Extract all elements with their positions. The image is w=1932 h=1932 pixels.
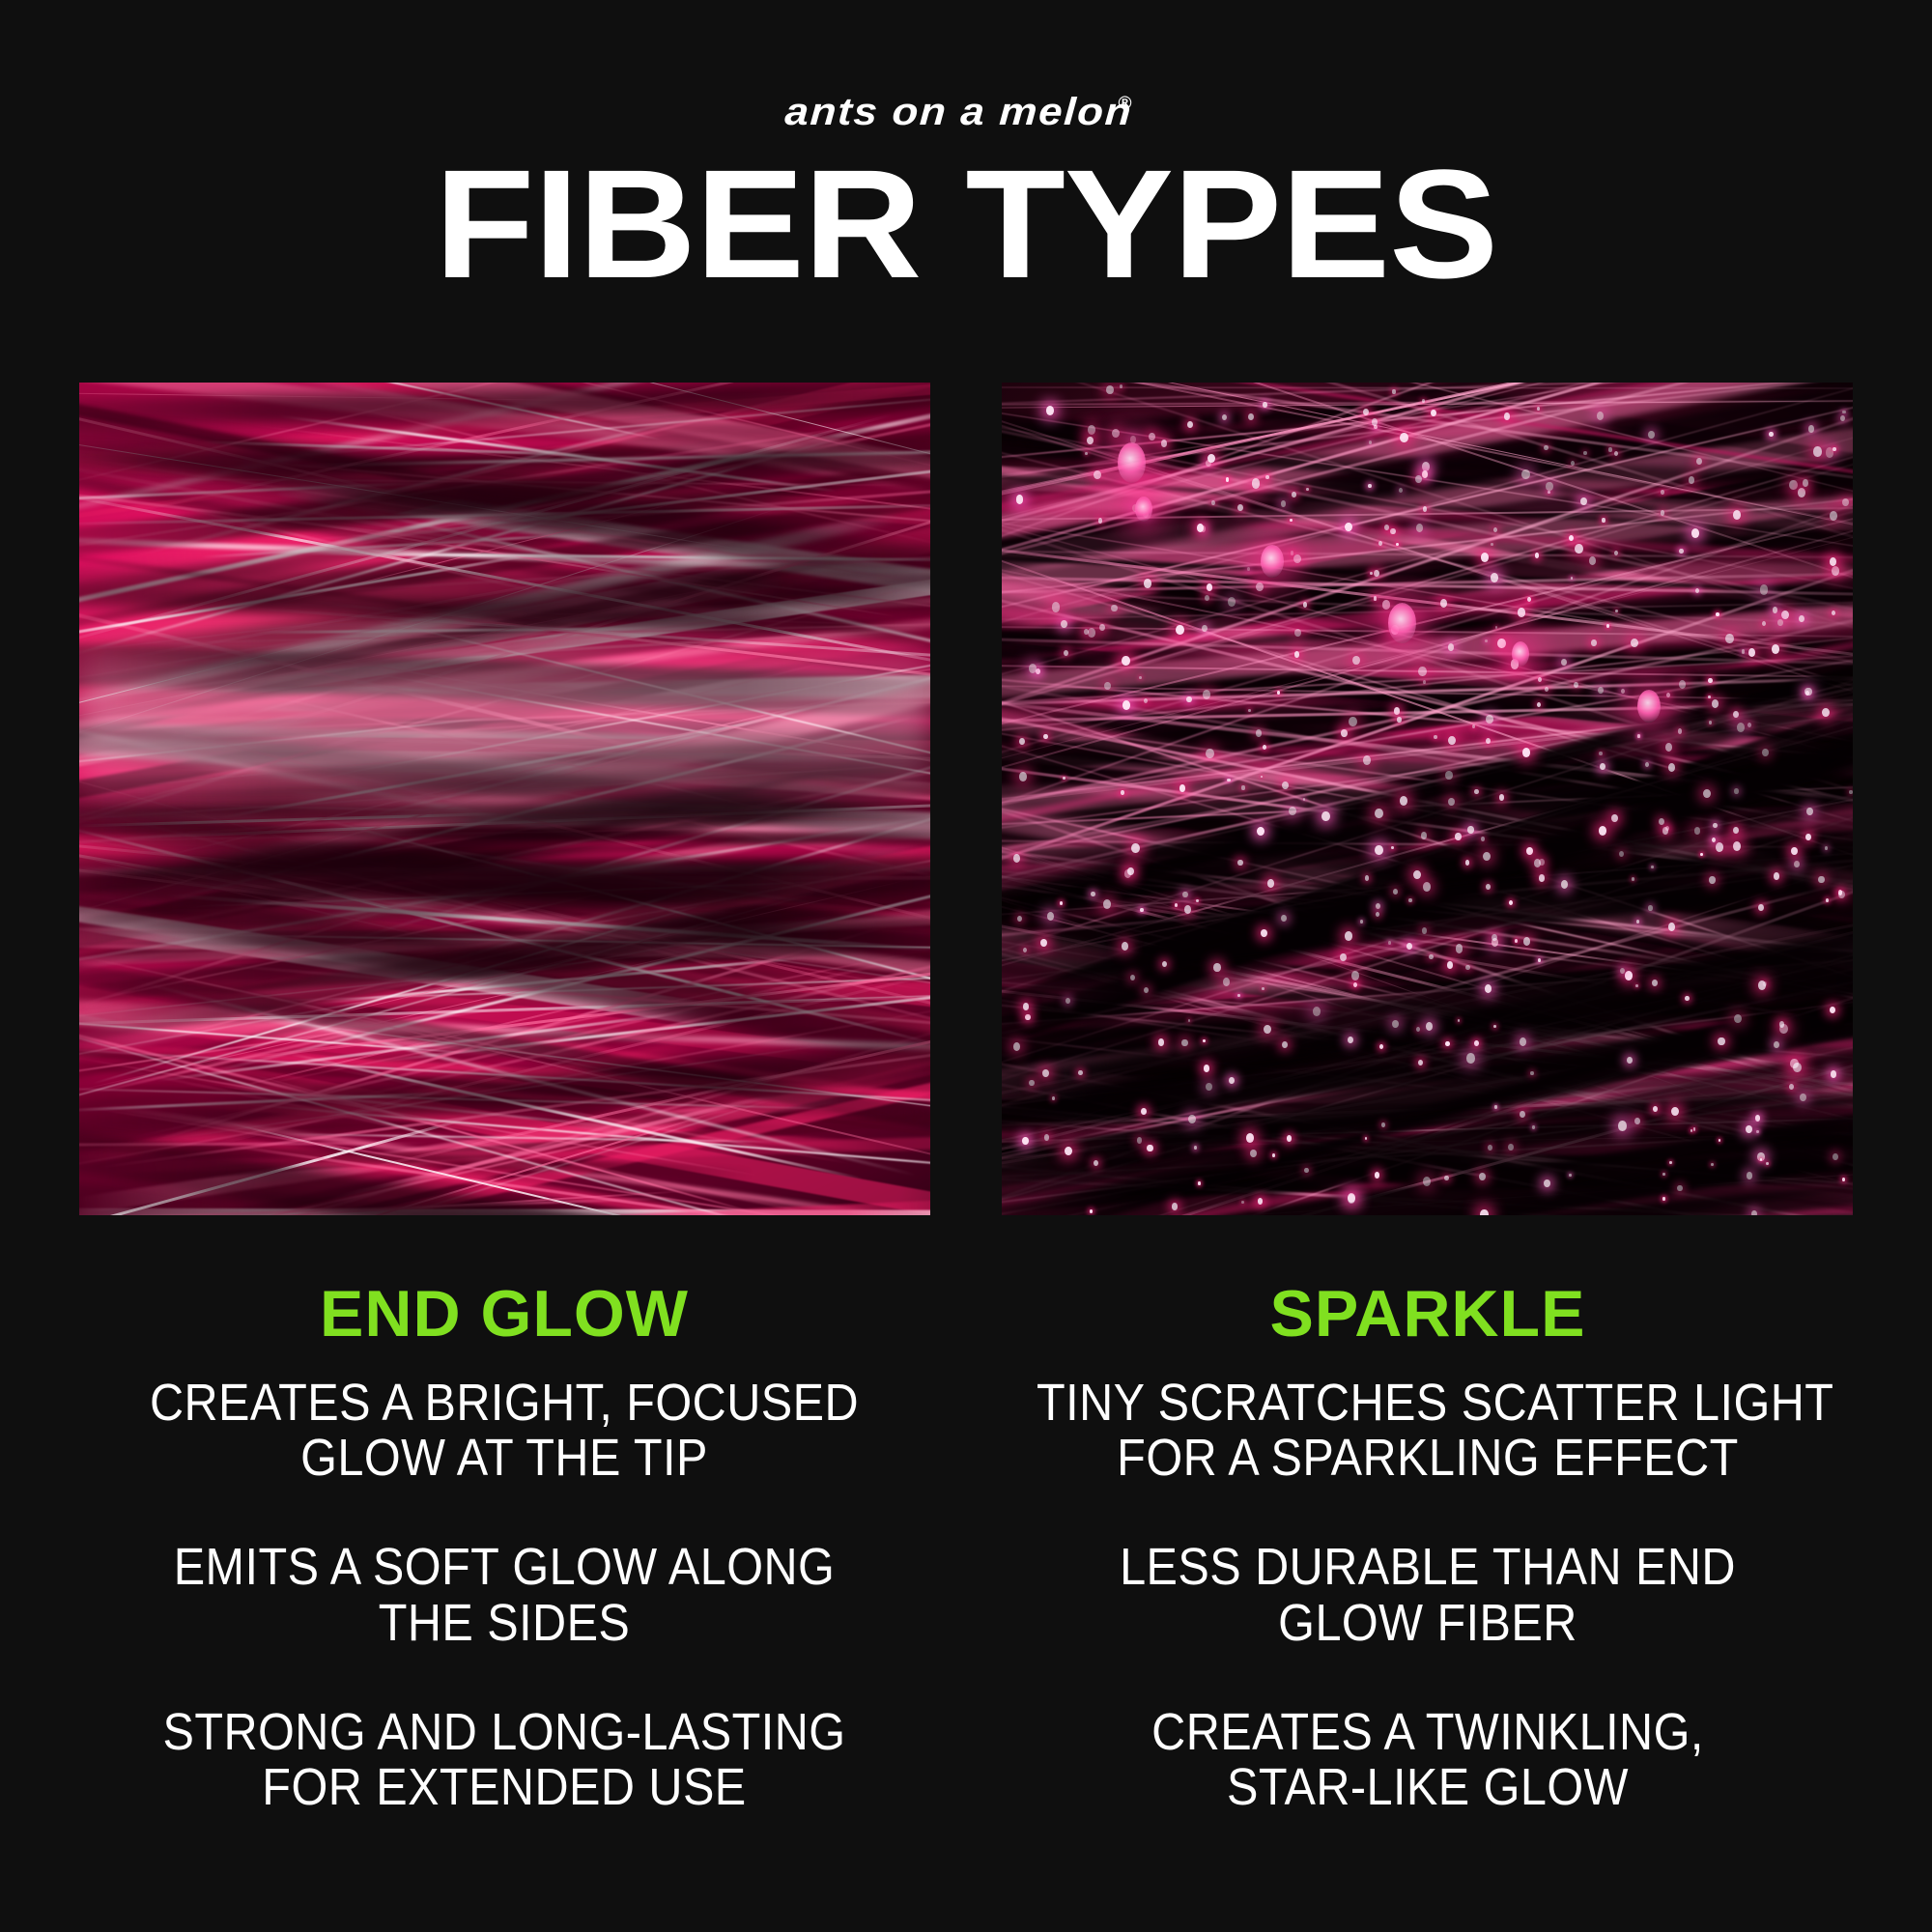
bullet-item: CREATES A TWINKLING,STAR-LIKE GLOW bbox=[1037, 1705, 1819, 1815]
bullet-item: STRONG AND LONG-LASTINGFOR EXTENDED USE bbox=[113, 1705, 895, 1815]
bullet-line: CREATES A TWINKLING, bbox=[1037, 1705, 1819, 1760]
brand-logo: ants on a melon® bbox=[0, 93, 1932, 131]
bullet-line: GLOW FIBER bbox=[1037, 1596, 1819, 1651]
bullet-item: EMITS A SOFT GLOW ALONGTHE SIDES bbox=[113, 1540, 895, 1650]
bullet-line: CREATES A BRIGHT, FOCUSED bbox=[113, 1376, 895, 1431]
bullet-item: LESS DURABLE THAN ENDGLOW FIBER bbox=[1037, 1540, 1819, 1650]
bullet-line: FOR EXTENDED USE bbox=[113, 1760, 895, 1815]
bullet-line: STAR-LIKE GLOW bbox=[1037, 1760, 1819, 1815]
bullet-line: STRONG AND LONG-LASTING bbox=[113, 1705, 895, 1760]
bullet-line: THE SIDES bbox=[113, 1596, 895, 1651]
photo-end-glow bbox=[79, 383, 930, 1215]
bullet-line: GLOW AT THE TIP bbox=[113, 1431, 895, 1486]
bullet-line: LESS DURABLE THAN END bbox=[1037, 1540, 1819, 1595]
brand-name: ants on a melon bbox=[783, 93, 1133, 131]
photo-sparkle bbox=[1002, 383, 1853, 1215]
bullet-line: EMITS A SOFT GLOW ALONG bbox=[113, 1540, 895, 1595]
column-heading-sparkle: SPARKLE bbox=[993, 1281, 1862, 1347]
page-title: FIBER TYPES bbox=[0, 145, 1932, 302]
bullet-item: CREATES A BRIGHT, FOCUSEDGLOW AT THE TIP bbox=[113, 1376, 895, 1486]
infographic-poster: ants on a melon® FIBER TYPES END GLOW SP… bbox=[0, 0, 1932, 1932]
sparkle-points bbox=[1002, 383, 1853, 1215]
bullet-column-end-glow: CREATES A BRIGHT, FOCUSEDGLOW AT THE TIP… bbox=[70, 1376, 939, 1815]
column-heading-end-glow: END GLOW bbox=[70, 1281, 939, 1347]
bullet-line: FOR A SPARKLING EFFECT bbox=[1037, 1431, 1819, 1486]
bullet-line: TINY SCRATCHES SCATTER LIGHT bbox=[1037, 1376, 1819, 1431]
bullet-column-sparkle: TINY SCRATCHES SCATTER LIGHTFOR A SPARKL… bbox=[993, 1376, 1862, 1815]
fiber-strands-left bbox=[79, 383, 930, 1215]
bullet-item: TINY SCRATCHES SCATTER LIGHTFOR A SPARKL… bbox=[1037, 1376, 1819, 1486]
photo-panel-group bbox=[79, 383, 1853, 1215]
registered-trademark-icon: ® bbox=[1119, 95, 1132, 113]
